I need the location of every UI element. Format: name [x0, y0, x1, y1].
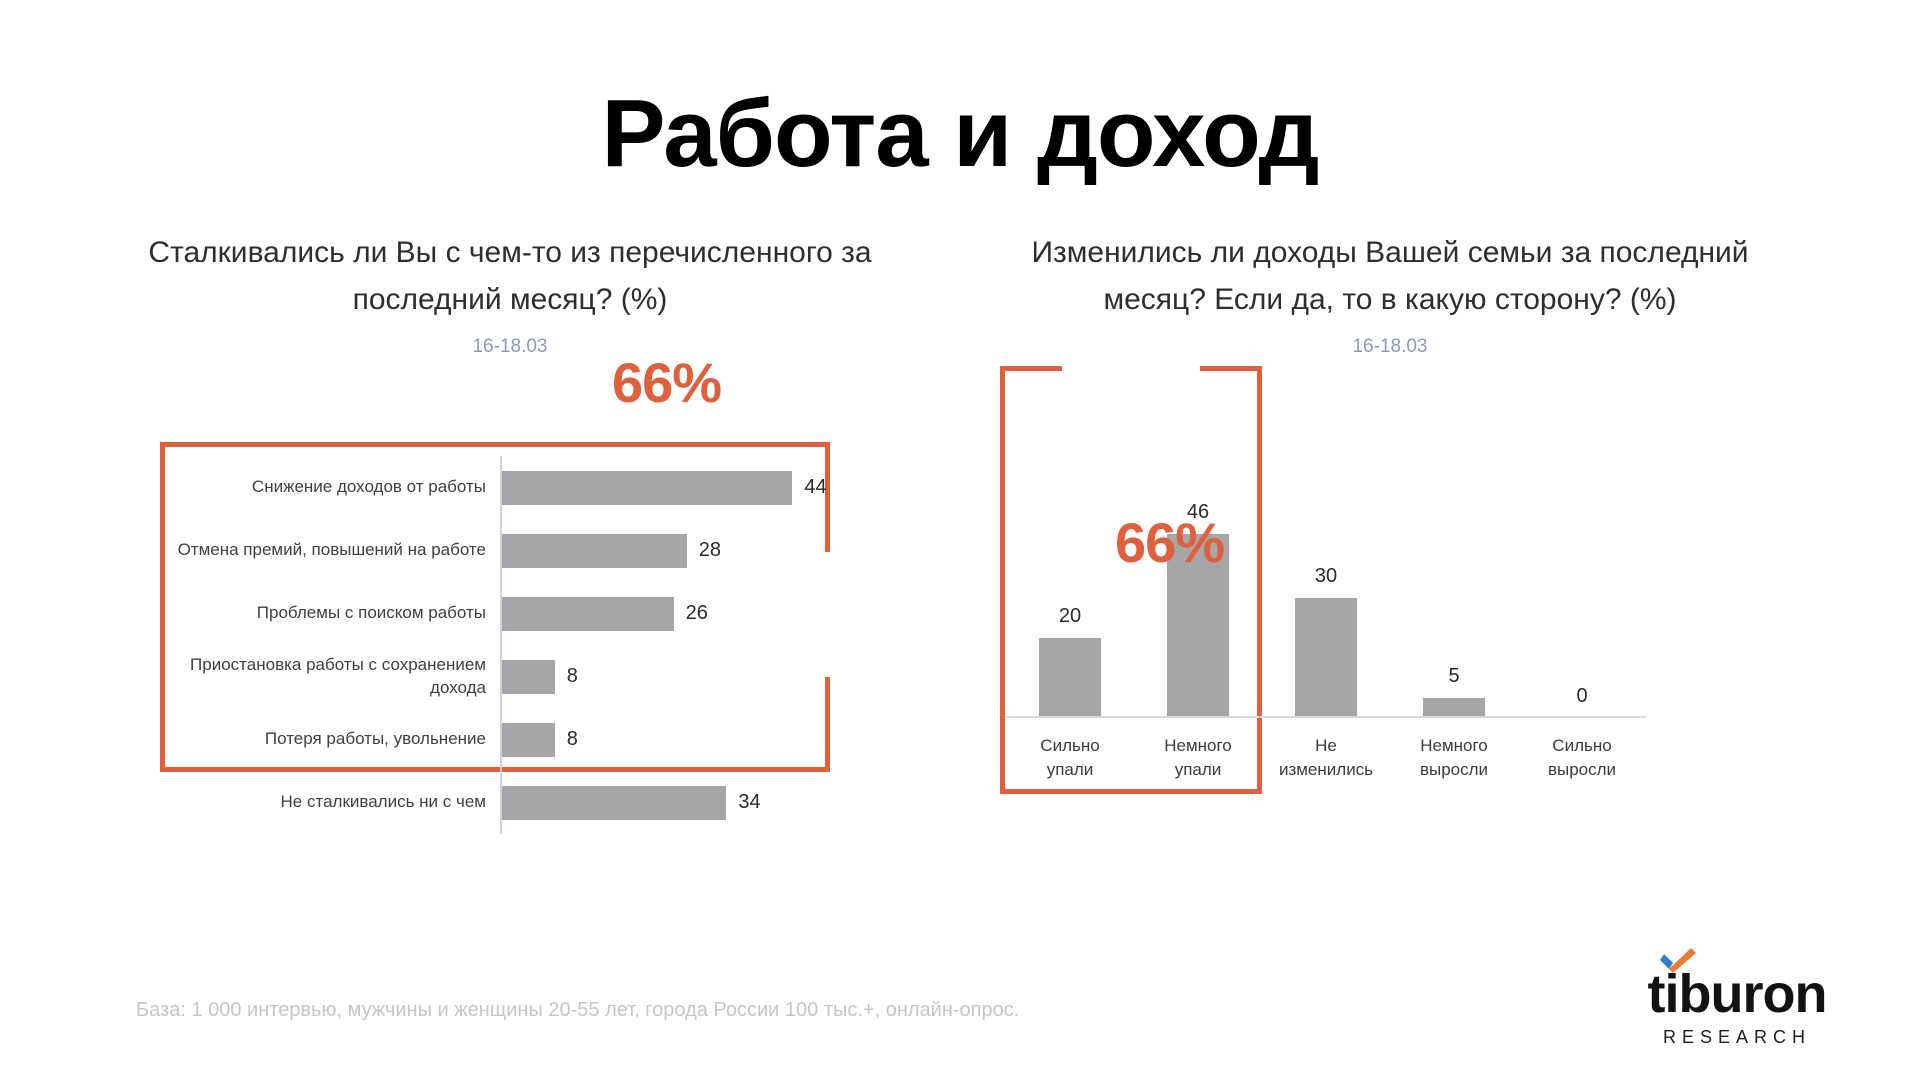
- right-highlight-percent: 66%: [1115, 510, 1224, 575]
- hbar-row: Отмена премий, повышений на работе 28: [170, 519, 850, 582]
- vbar-value: 0: [1576, 685, 1587, 708]
- left-bar-chart: Снижение доходов от работы 44 Отмена пре…: [170, 456, 850, 856]
- right-plot-area: 20 46 30 5 0: [1006, 498, 1646, 718]
- logo-word-text: tiburon: [1648, 964, 1827, 1024]
- vbar-tick-label: Сильно выросли: [1518, 722, 1646, 798]
- vbar-fill: [1295, 598, 1357, 718]
- hbar-label: Потеря работы, увольнение: [170, 728, 500, 750]
- hbar-value: 8: [567, 728, 578, 751]
- vbar-tick-line2: выросли: [1420, 760, 1488, 779]
- panel-right: Изменились ли доходы Вашей семьи за посл…: [1000, 230, 1780, 358]
- hbar-track: 8: [500, 708, 850, 771]
- right-bar-chart: 20 46 30 5 0 Сильно: [1006, 498, 1646, 828]
- hbar-row: Приостановка работы с сохранением дохода…: [170, 645, 850, 708]
- brand-logo: tiburon RESEARCH: [1632, 967, 1842, 1048]
- hbar-fill: [502, 471, 792, 505]
- hbar-value: 28: [699, 539, 721, 562]
- vbar-tick-label: Немного выросли: [1390, 722, 1518, 798]
- vbar-tick-line2: выросли: [1548, 760, 1616, 779]
- hbar-row: Снижение доходов от работы 44: [170, 456, 850, 519]
- hbar-value: 34: [738, 791, 760, 814]
- hbar-label: Снижение доходов от работы: [170, 476, 500, 498]
- vbar-fill: [1039, 638, 1101, 718]
- vbar-value: 20: [1059, 605, 1081, 628]
- panel-left: Сталкивались ли Вы с чем-то из перечисле…: [130, 230, 890, 358]
- vbar-tick-line2: упали: [1047, 760, 1094, 779]
- vbar-tick-label: Сильно упали: [1006, 722, 1134, 798]
- checkmark-icon: [1658, 947, 1698, 973]
- hbar-track: 28: [500, 519, 850, 582]
- page-title: Работа и доход: [0, 84, 1920, 185]
- right-chart-title: Изменились ли доходы Вашей семьи за посл…: [1000, 230, 1780, 324]
- hbar-fill: [502, 786, 726, 820]
- vbar-tick-line1: Не: [1315, 736, 1337, 755]
- hbar-label: Отмена премий, повышений на работе: [170, 539, 500, 561]
- vbar-column: 30: [1262, 498, 1390, 718]
- vbar-column: 5: [1390, 498, 1518, 718]
- hbar-row: Проблемы с поиском работы 26: [170, 582, 850, 645]
- left-highlight-percent: 66%: [612, 350, 721, 415]
- vbar-tick-label: Не изменились: [1262, 722, 1390, 798]
- vbar-tick-line2: упали: [1175, 760, 1222, 779]
- right-axis-line: [1006, 716, 1646, 718]
- vbar-value: 30: [1315, 565, 1337, 588]
- vbar-tick-line2: изменились: [1279, 760, 1373, 779]
- right-chart-subtitle: 16-18.03: [1000, 336, 1780, 358]
- hbar-row: Не сталкивались ни с чем 34: [170, 771, 850, 834]
- vbar-column: 0: [1518, 498, 1646, 718]
- left-chart-subtitle: 16-18.03: [130, 336, 890, 358]
- left-chart-title: Сталкивались ли Вы с чем-то из перечисле…: [130, 230, 890, 324]
- logo-wordmark: tiburon: [1632, 967, 1842, 1021]
- hbar-value: 8: [567, 665, 578, 688]
- hbar-value: 26: [686, 602, 708, 625]
- vbar-tick-line1: Немного: [1420, 736, 1488, 755]
- hbar-track: 34: [500, 771, 850, 834]
- hbar-fill: [502, 723, 555, 757]
- logo-subtext: RESEARCH: [1632, 1027, 1842, 1048]
- vbar-tick-line1: Немного: [1164, 736, 1232, 755]
- hbar-track: 44: [500, 456, 850, 519]
- vbar-fill: [1423, 698, 1485, 718]
- vbar-tick-line1: Сильно: [1552, 736, 1611, 755]
- vbar-tick-label: Немного упали: [1134, 722, 1262, 798]
- vbar-value: 5: [1448, 665, 1459, 688]
- vbar-tick-line1: Сильно: [1040, 736, 1099, 755]
- hbar-track: 8: [500, 645, 850, 708]
- hbar-label: Не сталкивались ни с чем: [170, 791, 500, 813]
- hbar-fill: [502, 660, 555, 694]
- right-axis-ticks: Сильно упали Немного упали Не изменились…: [1006, 722, 1646, 798]
- hbar-fill: [502, 597, 674, 631]
- hbar-label: Проблемы с поиском работы: [170, 602, 500, 624]
- footer-note: База: 1 000 интервью, мужчины и женщины …: [136, 999, 1019, 1022]
- hbar-label: Приостановка работы с сохранением дохода: [170, 654, 500, 699]
- hbar-row: Потеря работы, увольнение 8: [170, 708, 850, 771]
- hbar-value: 44: [804, 476, 826, 499]
- hbar-fill: [502, 534, 687, 568]
- hbar-track: 26: [500, 582, 850, 645]
